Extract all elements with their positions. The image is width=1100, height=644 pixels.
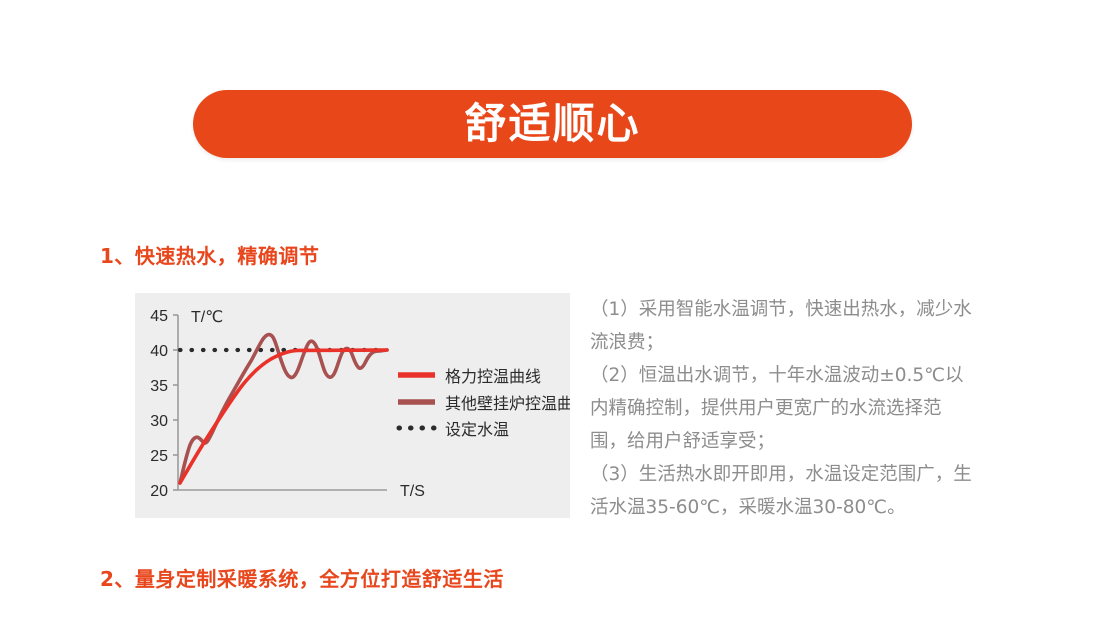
feature-line: （2）恒温出水调节，十年水温波动±0.5℃以: [590, 359, 1022, 392]
section-heading-1: 1、快速热水，精确调节: [100, 240, 319, 269]
ytick-25: 25: [150, 448, 168, 465]
feature-line: 围，给用户舒适享受；: [590, 425, 1022, 458]
feature-line: （3）生活热水即开即用，水温设定范围广，生: [590, 458, 1022, 491]
chart-svg: 45 40 35 30 25 20 T/℃ T/S 格力控温曲线 其他壁挂炉控温…: [135, 293, 570, 518]
temperature-control-chart: 45 40 35 30 25 20 T/℃ T/S 格力控温曲线 其他壁挂炉控温…: [135, 293, 570, 518]
y-axis-label: T/℃: [191, 309, 223, 326]
ytick-45: 45: [150, 308, 168, 325]
section-heading-2: 2、量身定制采暖系统，全方位打造舒适生活: [100, 563, 504, 592]
x-axis-label: T/S: [400, 483, 425, 500]
feature-description: （1）采用智能水温调节，快速出热水，减少水 流浪费； （2）恒温出水调节，十年水…: [590, 293, 1022, 524]
feature-line: 内精确控制，提供用户更宽广的水流选择范: [590, 392, 1022, 425]
feature-line: 流浪费；: [590, 326, 1022, 359]
page-title: 舒适顺心: [464, 103, 640, 145]
feature-line: （1）采用智能水温调节，快速出热水，减少水: [590, 293, 1022, 326]
ytick-40: 40: [150, 343, 168, 360]
ytick-30: 30: [150, 413, 168, 430]
ytick-35: 35: [150, 378, 168, 395]
legend-label-other-boiler: 其他壁挂炉控温曲线: [445, 394, 570, 413]
page-title-banner: 舒适顺心: [193, 90, 912, 158]
feature-line: 活水温35-60℃，采暖水温30-80℃。: [590, 491, 1022, 524]
legend-label-gree: 格力控温曲线: [445, 367, 541, 386]
legend-label-setpoint: 设定水温: [445, 420, 509, 439]
ytick-20: 20: [150, 483, 168, 500]
